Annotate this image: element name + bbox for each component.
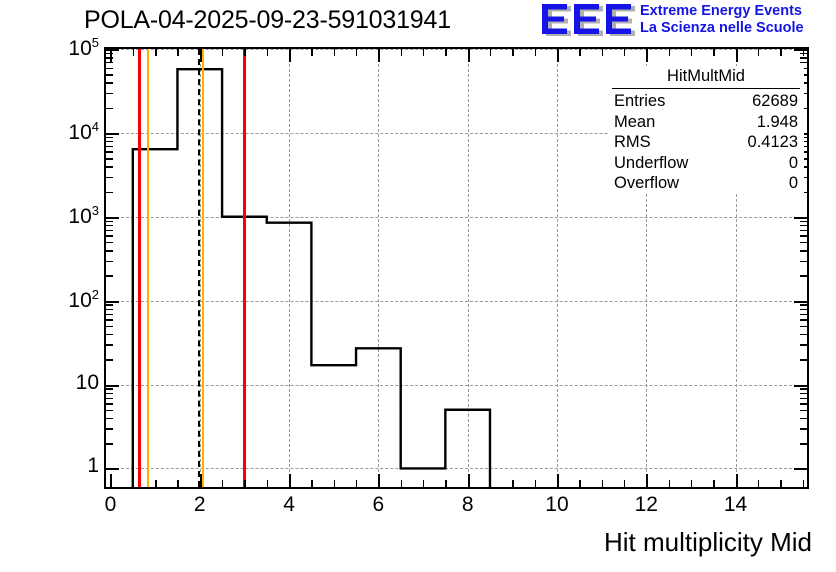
y-tick-minor-right bbox=[800, 398, 807, 399]
eee-logo-mark bbox=[540, 3, 636, 39]
y-tick-minor bbox=[106, 141, 113, 142]
eee-logo-front-icon bbox=[540, 3, 636, 39]
x-tick-minor-top bbox=[691, 49, 692, 56]
x-tick-minor bbox=[267, 480, 268, 487]
page-title: POLA-04-2025-09-23-591031941 bbox=[84, 6, 451, 35]
y-tick-minor bbox=[106, 137, 113, 138]
x-axis-title: Hit multiplicity Mid bbox=[604, 527, 812, 558]
x-tick-minor-top bbox=[334, 49, 335, 56]
y-tick-minor bbox=[106, 309, 113, 310]
y-tick-minor bbox=[106, 146, 113, 147]
y-tick-minor-right bbox=[800, 443, 807, 444]
root-canvas: POLA-04-2025-09-23-591031941 bbox=[0, 0, 836, 572]
y-tick-minor bbox=[106, 334, 113, 335]
y-tick-minor bbox=[106, 359, 113, 360]
x-tick-label: 0 bbox=[86, 493, 134, 517]
x-tick-minor bbox=[244, 480, 245, 487]
y-tick-minor-right bbox=[800, 225, 807, 226]
y-tick-minor-right bbox=[800, 319, 807, 320]
eee-logo-line1: Extreme Energy Events bbox=[640, 3, 804, 20]
y-tick-label: 102 bbox=[68, 287, 99, 313]
x-tick-minor-top bbox=[624, 49, 625, 56]
y-tick-minor bbox=[106, 166, 113, 167]
x-tick-minor bbox=[512, 480, 513, 487]
y-tick-minor-right bbox=[800, 235, 807, 236]
x-tick-minor-top bbox=[490, 49, 491, 56]
x-tick-minor bbox=[490, 480, 491, 487]
y-tick-minor bbox=[106, 388, 113, 389]
y-tick-major bbox=[106, 133, 119, 135]
y-tick-minor-right bbox=[800, 326, 807, 327]
x-tick-minor bbox=[780, 480, 781, 487]
x-tick-minor-top bbox=[244, 49, 245, 56]
x-tick-label: 14 bbox=[712, 493, 760, 517]
y-tick-minor bbox=[106, 418, 113, 419]
y-tick-minor bbox=[106, 250, 113, 251]
x-tick-minor bbox=[222, 480, 223, 487]
y-tick-major-right bbox=[794, 385, 807, 387]
x-tick-major bbox=[468, 474, 470, 487]
x-tick-minor-top bbox=[356, 49, 357, 56]
x-tick-major-top bbox=[557, 49, 559, 62]
y-tick-minor-right bbox=[800, 230, 807, 231]
x-tick-label: 8 bbox=[444, 493, 492, 517]
x-tick-major bbox=[646, 474, 648, 487]
x-tick-minor bbox=[713, 480, 714, 487]
stats-box: HitMultMid Entries62689Mean1.948RMS0.412… bbox=[608, 66, 804, 194]
y-tick-minor bbox=[106, 151, 113, 152]
y-tick-label-exponent: 3 bbox=[92, 203, 99, 218]
y-tick-minor-right bbox=[800, 309, 807, 310]
stats-row-value: 0 bbox=[789, 173, 798, 194]
y-tick-minor bbox=[106, 398, 113, 399]
stats-row-key: Underflow bbox=[614, 153, 688, 174]
y-tick-label: 104 bbox=[68, 119, 99, 145]
x-tick-minor-top bbox=[780, 49, 781, 56]
stats-row: Entries62689 bbox=[608, 91, 804, 112]
x-tick-major-top bbox=[468, 49, 470, 62]
y-tick-minor-right bbox=[800, 304, 807, 305]
x-tick-minor-top bbox=[602, 49, 603, 56]
x-tick-minor bbox=[624, 480, 625, 487]
y-tick-minor-right bbox=[800, 57, 807, 58]
x-tick-major bbox=[736, 474, 738, 487]
y-tick-label-mantissa: 10 bbox=[68, 37, 91, 60]
x-tick-minor bbox=[691, 480, 692, 487]
y-tick-label-mantissa: 10 bbox=[68, 289, 91, 312]
y-tick-minor bbox=[106, 93, 113, 94]
x-tick-minor bbox=[758, 480, 759, 487]
stats-divider bbox=[612, 88, 800, 89]
y-tick-minor bbox=[106, 74, 113, 75]
y-tick-major bbox=[106, 49, 119, 51]
stats-title: HitMultMid bbox=[608, 66, 804, 88]
y-tick-label-exponent: 2 bbox=[92, 287, 99, 302]
x-tick-major-top bbox=[646, 49, 648, 62]
y-tick-minor bbox=[106, 192, 113, 193]
y-tick-label-mantissa: 10 bbox=[68, 121, 91, 144]
x-tick-minor-top bbox=[401, 49, 402, 56]
y-tick-minor bbox=[106, 314, 113, 315]
x-tick-major-top bbox=[200, 49, 202, 62]
y-tick-minor-right bbox=[800, 250, 807, 251]
x-tick-major bbox=[200, 474, 202, 487]
y-tick-label: 10 bbox=[76, 371, 99, 395]
stats-row-key: Entries bbox=[614, 91, 665, 112]
y-tick-minor bbox=[106, 82, 113, 83]
y-tick-major-right bbox=[794, 301, 807, 303]
x-tick-major-top bbox=[289, 49, 291, 62]
y-tick-minor bbox=[106, 68, 113, 69]
x-tick-minor-top bbox=[445, 49, 446, 56]
x-tick-minor-top bbox=[133, 49, 134, 56]
y-tick-label: 105 bbox=[68, 35, 99, 61]
y-tick-minor-right bbox=[800, 275, 807, 276]
x-tick-minor bbox=[535, 480, 536, 487]
stats-row: Mean1.948 bbox=[608, 112, 804, 133]
y-tick-minor bbox=[106, 225, 113, 226]
y-tick-minor bbox=[106, 443, 113, 444]
stats-row-key: Mean bbox=[614, 112, 655, 133]
y-tick-minor bbox=[106, 326, 113, 327]
stats-row: Overflow0 bbox=[608, 173, 804, 194]
x-tick-major-top bbox=[378, 49, 380, 62]
y-tick-minor bbox=[106, 158, 113, 159]
x-tick-major-top bbox=[736, 49, 738, 62]
y-tick-minor bbox=[106, 403, 113, 404]
x-tick-minor-top bbox=[512, 49, 513, 56]
y-tick-minor bbox=[106, 177, 113, 178]
x-tick-major bbox=[378, 474, 380, 487]
y-tick-minor bbox=[106, 428, 113, 429]
y-tick-minor bbox=[106, 393, 113, 394]
y-tick-major bbox=[106, 301, 119, 303]
y-tick-minor-right bbox=[800, 221, 807, 222]
x-tick-minor bbox=[579, 480, 580, 487]
x-tick-minor-top bbox=[669, 49, 670, 56]
y-tick-major-right bbox=[794, 49, 807, 51]
x-tick-minor-top bbox=[758, 49, 759, 56]
x-tick-minor bbox=[423, 480, 424, 487]
y-tick-minor-right bbox=[800, 388, 807, 389]
x-tick-minor bbox=[334, 480, 335, 487]
y-tick-minor-right bbox=[800, 62, 807, 63]
x-tick-minor-top bbox=[177, 49, 178, 56]
x-tick-label: 4 bbox=[265, 493, 313, 517]
eee-logo: Extreme Energy Events La Scienza nelle S… bbox=[540, 2, 836, 44]
y-tick-minor bbox=[106, 319, 113, 320]
x-tick-minor-top bbox=[803, 49, 804, 56]
x-tick-major bbox=[289, 474, 291, 487]
stats-row-value: 62689 bbox=[752, 91, 798, 112]
x-tick-label: 2 bbox=[176, 493, 224, 517]
y-tick-major bbox=[106, 217, 119, 219]
y-tick-label-mantissa: 10 bbox=[68, 205, 91, 228]
y-tick-minor bbox=[106, 62, 113, 63]
y-tick-minor bbox=[106, 410, 113, 411]
x-tick-minor-top bbox=[713, 49, 714, 56]
y-tick-minor bbox=[106, 230, 113, 231]
stats-row-key: Overflow bbox=[614, 173, 679, 194]
y-tick-minor-right bbox=[800, 410, 807, 411]
x-tick-minor bbox=[133, 480, 134, 487]
y-tick-minor bbox=[106, 235, 113, 236]
stats-row-value: 0 bbox=[789, 153, 798, 174]
y-tick-label-exponent: 4 bbox=[92, 119, 99, 134]
x-tick-label: 12 bbox=[622, 493, 670, 517]
x-tick-minor bbox=[669, 480, 670, 487]
y-tick-minor-right bbox=[800, 418, 807, 419]
stats-row-key: RMS bbox=[614, 132, 651, 153]
y-tick-minor bbox=[106, 261, 113, 262]
x-tick-minor bbox=[401, 480, 402, 487]
x-tick-minor bbox=[445, 480, 446, 487]
stats-row: RMS0.4123 bbox=[608, 132, 804, 153]
x-tick-minor bbox=[356, 480, 357, 487]
y-tick-minor bbox=[106, 242, 113, 243]
y-tick-minor bbox=[106, 108, 113, 109]
y-tick-major bbox=[106, 468, 119, 470]
y-tick-label: 103 bbox=[68, 203, 99, 229]
stats-rows: Entries62689Mean1.948RMS0.4123Underflow0… bbox=[608, 91, 804, 194]
y-tick-major-right bbox=[794, 217, 807, 219]
x-tick-major-top bbox=[110, 49, 112, 62]
x-tick-minor bbox=[155, 480, 156, 487]
x-tick-label: 10 bbox=[533, 493, 581, 517]
x-tick-minor-top bbox=[535, 49, 536, 56]
y-tick-minor bbox=[106, 304, 113, 305]
y-tick-major-right bbox=[794, 468, 807, 470]
x-tick-label: 6 bbox=[354, 493, 402, 517]
y-tick-minor-right bbox=[800, 334, 807, 335]
y-tick-minor bbox=[106, 344, 113, 345]
x-tick-minor bbox=[177, 480, 178, 487]
stats-row: Underflow0 bbox=[608, 153, 804, 174]
y-tick-major bbox=[106, 385, 119, 387]
y-tick-label: 1 bbox=[87, 454, 99, 478]
x-tick-major bbox=[557, 474, 559, 487]
y-tick-minor-right bbox=[800, 242, 807, 243]
x-tick-minor-top bbox=[155, 49, 156, 56]
y-tick-minor-right bbox=[800, 393, 807, 394]
y-tick-minor-right bbox=[800, 344, 807, 345]
x-tick-minor bbox=[602, 480, 603, 487]
x-tick-minor-top bbox=[267, 49, 268, 56]
eee-logo-text: Extreme Energy Events La Scienza nelle S… bbox=[640, 3, 804, 37]
x-tick-minor bbox=[803, 480, 804, 487]
y-tick-minor bbox=[106, 275, 113, 276]
y-tick-minor-right bbox=[800, 428, 807, 429]
x-tick-minor bbox=[311, 480, 312, 487]
stats-row-value: 0.4123 bbox=[748, 132, 798, 153]
x-tick-minor-top bbox=[423, 49, 424, 56]
y-tick-minor-right bbox=[800, 403, 807, 404]
x-tick-minor-top bbox=[222, 49, 223, 56]
y-tick-label-exponent: 5 bbox=[92, 35, 99, 50]
x-tick-minor-top bbox=[579, 49, 580, 56]
x-tick-minor-top bbox=[311, 49, 312, 56]
y-tick-minor-right bbox=[800, 314, 807, 315]
y-tick-minor-right bbox=[800, 359, 807, 360]
x-tick-major bbox=[110, 474, 112, 487]
stats-row-value: 1.948 bbox=[757, 112, 798, 133]
eee-logo-line2: La Scienza nelle Scuole bbox=[640, 20, 804, 37]
y-tick-minor bbox=[106, 221, 113, 222]
y-tick-minor-right bbox=[800, 261, 807, 262]
